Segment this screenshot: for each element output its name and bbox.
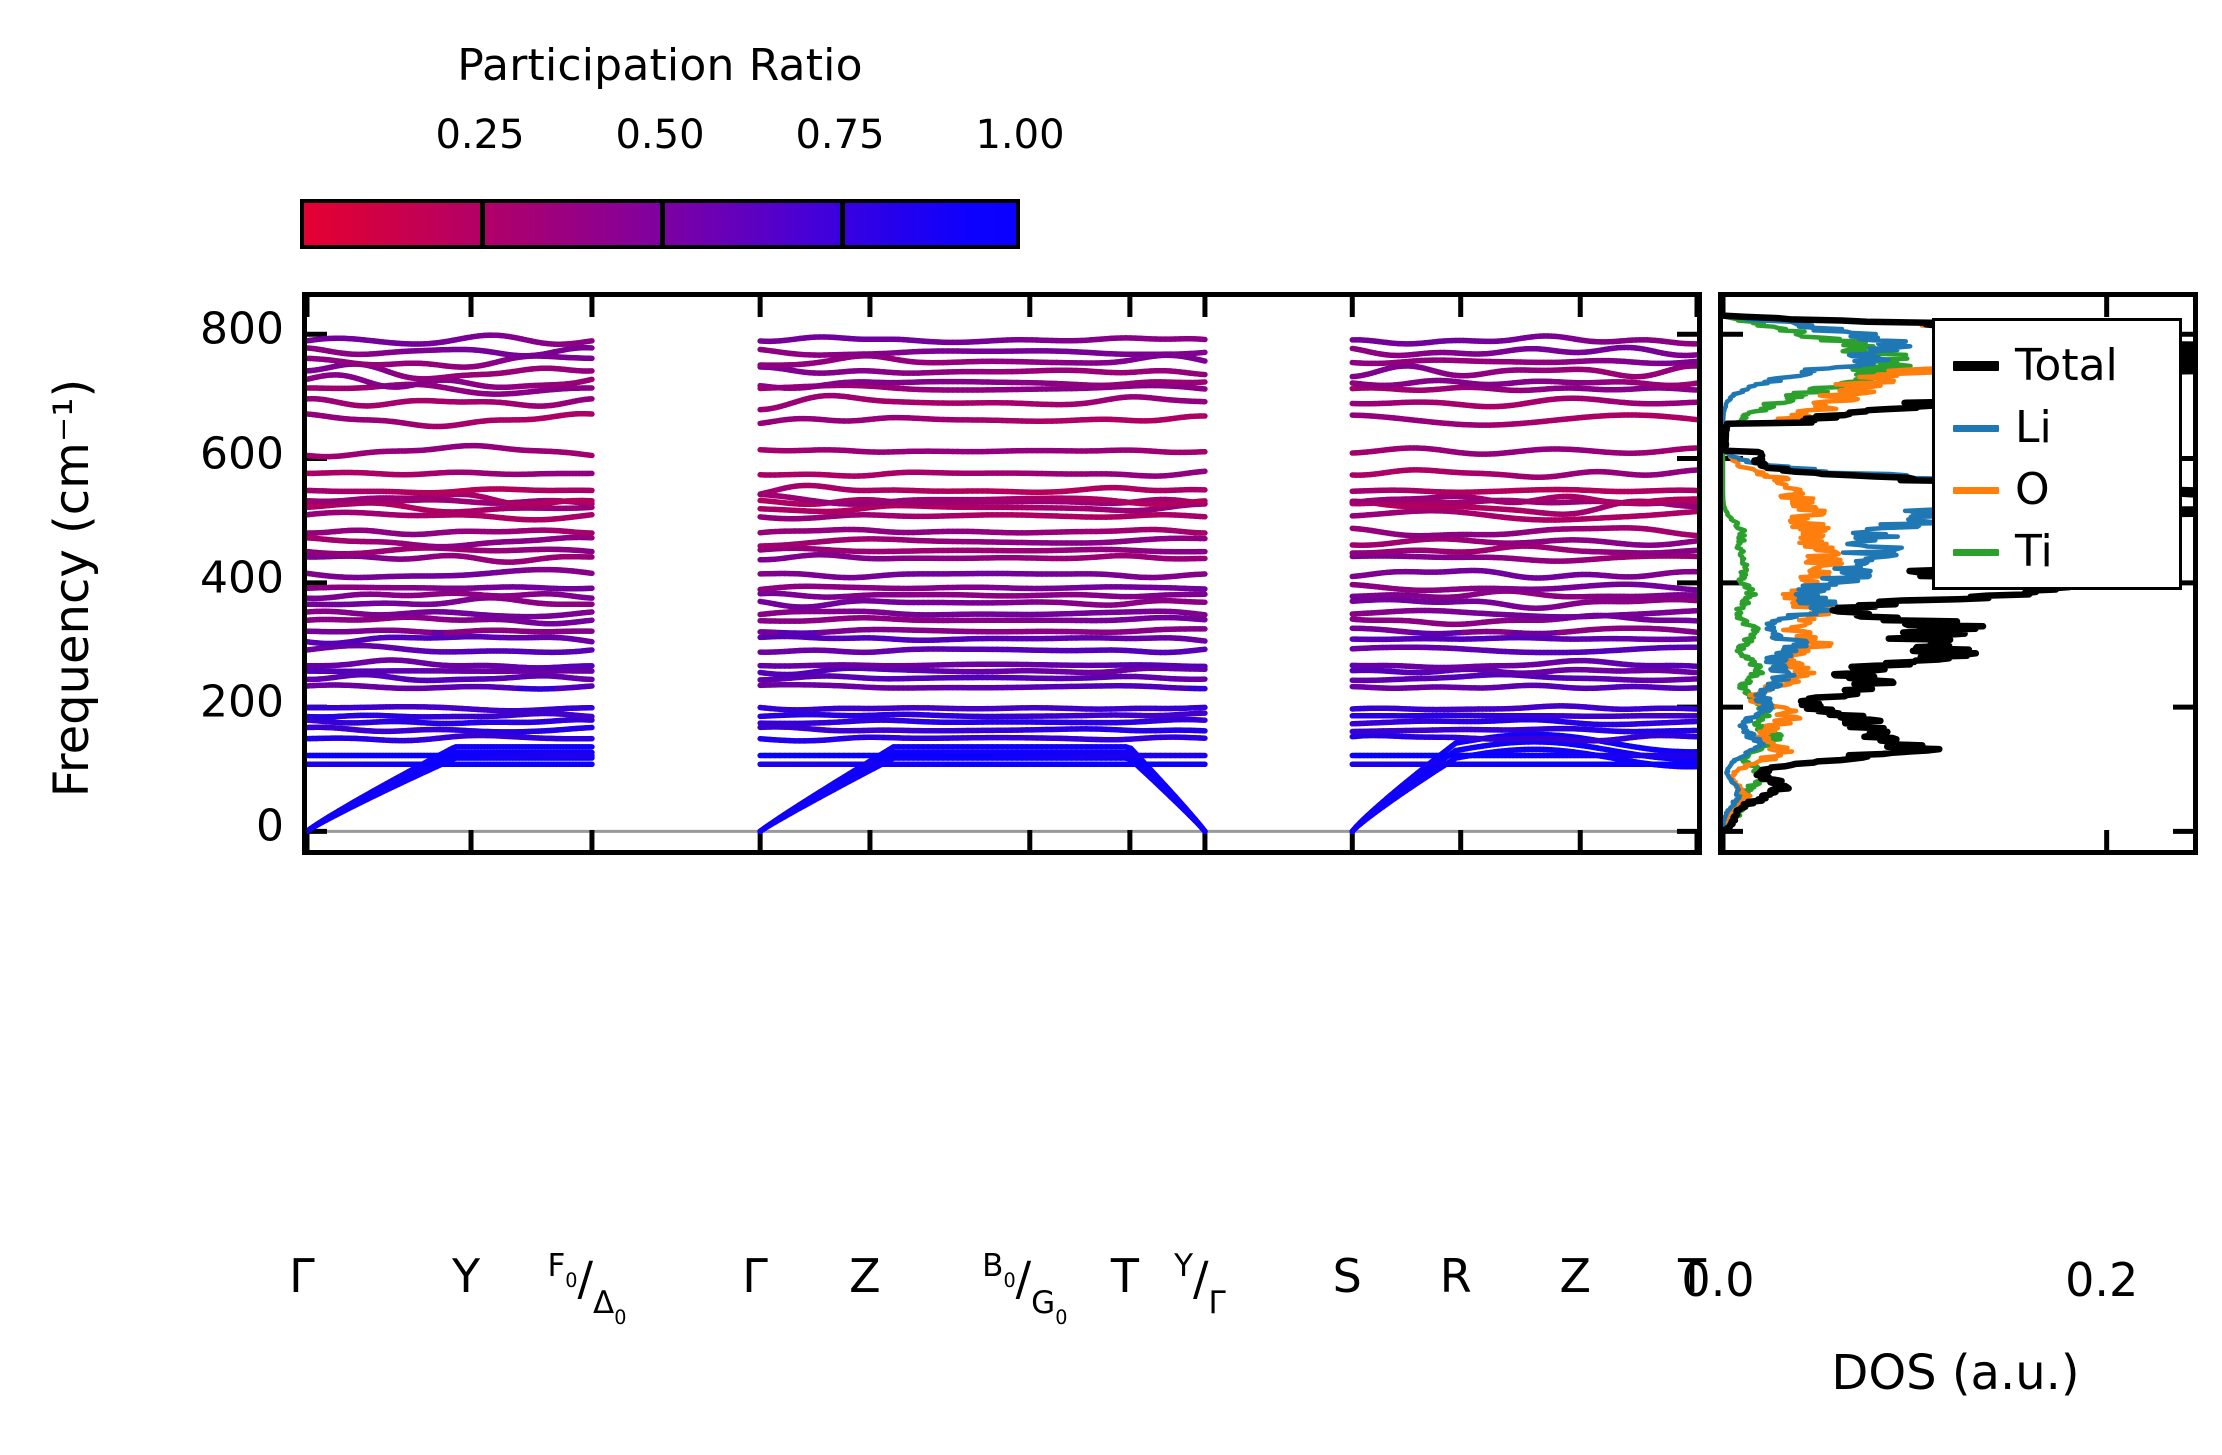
dos-tick-labels: 0.00.2 [0,1253,2222,1333]
legend-label: Li [2015,406,2052,450]
colorbar-tick-label: 0.25 [435,112,524,158]
legend-label: Ti [2015,530,2053,574]
dos-tick-label: 0.0 [1681,1253,1754,1307]
legend-color-swatch [1953,549,1999,556]
colorbar-title: Participation Ratio [300,40,1020,91]
legend-entry: Ti [1935,521,2179,583]
legend-label: O [2015,468,2050,512]
dos-axis-label: DOS (a.u.) [1718,1345,2193,1401]
colorbar-tick-label: 1.00 [975,112,1064,158]
band-structure-axes [302,292,1702,855]
dos-tick-label: 0.2 [2065,1253,2138,1307]
dos-legend: TotalLiOTi [1932,318,2182,590]
frequency-tick-label: 200 [200,677,284,728]
legend-color-swatch [1953,425,1999,432]
legend-color-swatch [1953,361,1999,371]
phonon-band-dos-figure: Participation Ratio 0.250.500.751.00 Fre… [0,0,2222,1455]
frequency-tick-label: 0 [256,801,284,852]
colorbar-tick-label: 0.50 [615,112,704,158]
frequency-tick-labels: 0200400600800 [0,0,284,1455]
colorbar-tick-mark [660,199,665,249]
colorbar-tick-labels: 0.250.500.751.00 [300,112,1020,158]
legend-label: Total [2015,344,2118,388]
band-structure-plot [307,297,1697,850]
frequency-tick-label: 800 [200,304,284,355]
legend-entry: Li [1935,397,2179,459]
legend-color-swatch [1953,487,1999,494]
legend-entry: O [1935,459,2179,521]
phonon-band-curves [307,335,1697,831]
frequency-tick-label: 600 [200,428,284,479]
legend-entry: Total [1935,335,2179,397]
frequency-tick-label: 400 [200,552,284,603]
colorbar-tick-mark [840,199,845,249]
colorbar-tick-mark [480,199,485,249]
colorbar-tick-label: 0.75 [795,112,884,158]
